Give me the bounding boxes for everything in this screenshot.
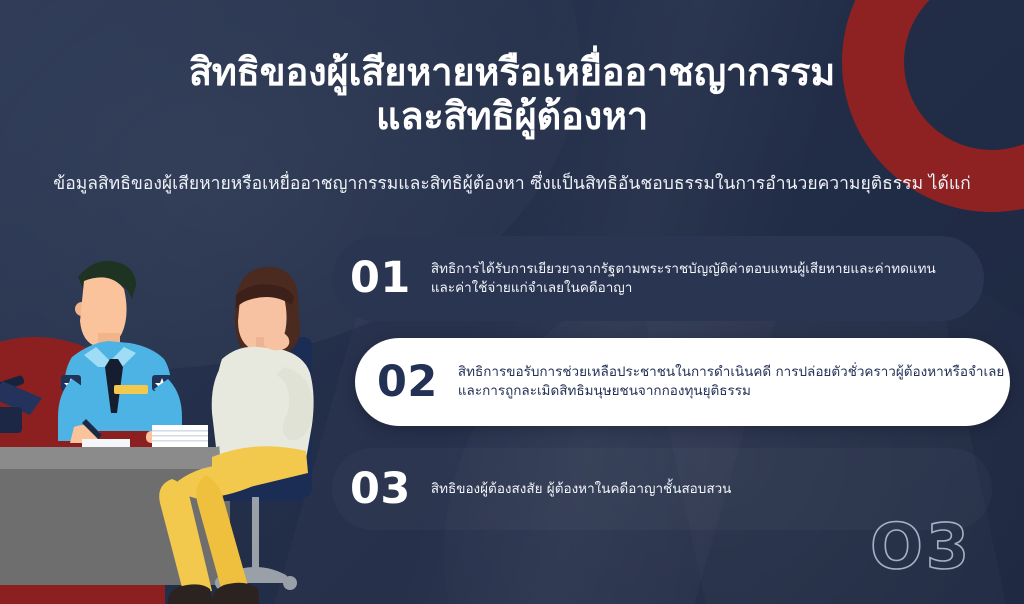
list-item-02[interactable]: 02 สิทธิการขอรับการช่วยเหลือประชาชนในการ… xyxy=(355,338,1010,426)
paper-stack xyxy=(152,425,208,447)
item-text-01-line-2: และค่าใช้จ่ายแก่จำเลยในคดีอาญา xyxy=(431,279,936,298)
item-text-03-line-1: สิทธิของผู้ต้องสงสัย ผู้ต้องหาในคดีอาญาช… xyxy=(431,480,732,499)
title-line-1: สิทธิของผู้เสียหายหรือเหยื่ออาชญากรรม xyxy=(0,50,1024,94)
list-item-01[interactable]: 01 สิทธิการได้รับการเยียวยาจากรัฐตามพระร… xyxy=(332,236,984,321)
presentation-slide: สิทธิของผู้เสียหายหรือเหยื่ออาชญากรรม แล… xyxy=(0,0,1024,604)
item-text-02-line-2: และการถูกละเมิดสิทธิมนุษยชนจากกองทุนยุติ… xyxy=(458,382,1004,401)
slide-title: สิทธิของผู้เสียหายหรือเหยื่ออาชญากรรม แล… xyxy=(0,50,1024,138)
item-text-02-line-1: สิทธิการขอรับการช่วยเหลือประชาชนในการดำเ… xyxy=(458,363,1004,382)
item-text-03: สิทธิของผู้ต้องสงสัย ผู้ต้องหาในคดีอาญาช… xyxy=(431,480,732,499)
police-officer-figure xyxy=(58,261,182,451)
title-line-2: และสิทธิผู้ต้องหา xyxy=(0,94,1024,138)
page-number: O3 xyxy=(870,516,972,578)
item-number-02: 02 xyxy=(377,361,438,404)
item-text-01: สิทธิการได้รับการเยียวยาจากรัฐตามพระราชบ… xyxy=(431,260,936,298)
item-number-03: 03 xyxy=(350,468,411,511)
slide-subtitle: ข้อมูลสิทธิของผู้เสียหายหรือเหยื่ออาชญาก… xyxy=(0,172,1024,196)
item-text-02: สิทธิการขอรับการช่วยเหลือประชาชนในการดำเ… xyxy=(458,363,1004,401)
item-text-01-line-1: สิทธิการได้รับการเยียวยาจากรัฐตามพระราชบ… xyxy=(431,260,936,279)
illustration-police-interview xyxy=(0,229,340,604)
item-number-01: 01 xyxy=(350,257,411,300)
